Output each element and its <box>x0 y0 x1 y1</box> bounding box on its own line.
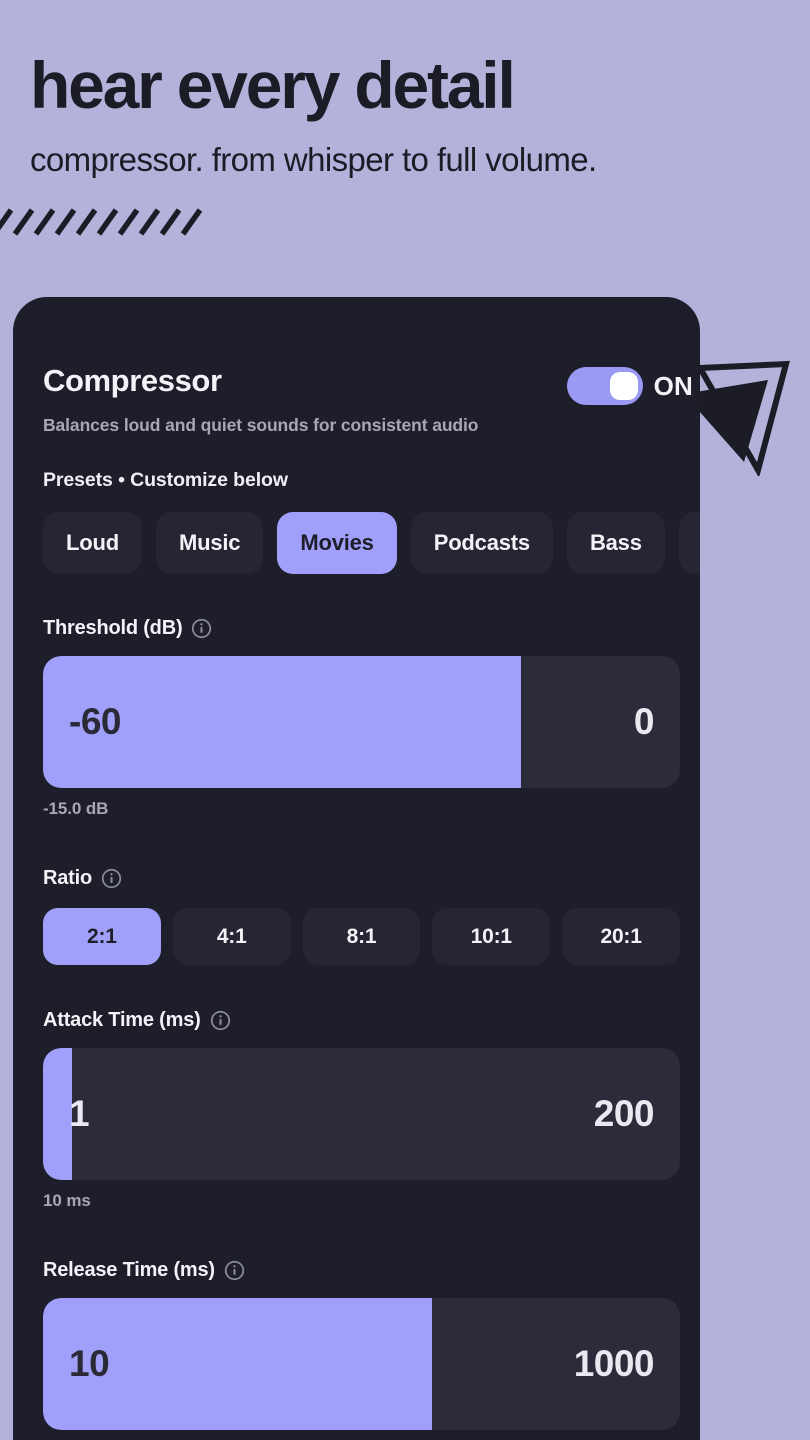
attack-label: Attack Time (ms) <box>43 1009 201 1032</box>
ratio-label-row: Ratio <box>43 867 680 890</box>
info-circle-icon[interactable] <box>210 1010 231 1031</box>
hero-banner: hear every detail compressor. from whisp… <box>0 0 810 297</box>
threshold-min-value: -60 <box>69 701 121 743</box>
ratio-option-10-1[interactable]: 10:1 <box>432 908 550 965</box>
threshold-max-value: 0 <box>634 701 654 743</box>
release-section: Release Time (ms) 10 1000 <box>43 1259 680 1430</box>
info-circle-icon[interactable] <box>101 868 122 889</box>
threshold-label-row: Threshold (dB) <box>43 617 680 640</box>
threshold-section: Threshold (dB) -60 0 -15.0 dB <box>43 617 680 819</box>
attack-slider-fill <box>43 1048 72 1180</box>
attack-slider[interactable]: 1 200 <box>43 1048 680 1180</box>
attack-min-value: 1 <box>69 1093 89 1135</box>
compressor-toggle-group[interactable]: ON <box>567 367 693 405</box>
ratio-option-20-1[interactable]: 20:1 <box>562 908 680 965</box>
card-title: Compressor <box>43 363 222 399</box>
preset-chip-loud[interactable]: Loud <box>43 512 142 574</box>
release-max-value: 1000 <box>574 1343 654 1385</box>
toggle-state-label: ON <box>654 371 693 402</box>
attack-max-value: 200 <box>594 1093 654 1135</box>
ratio-section: Ratio 2:1 4:1 8:1 10:1 20:1 <box>43 867 680 965</box>
ratio-option-4-1[interactable]: 4:1 <box>173 908 291 965</box>
preset-chip-movies[interactable]: Movies <box>277 512 396 574</box>
preset-chip-next[interactable]: N <box>679 512 700 574</box>
toggle-knob-icon <box>610 372 638 400</box>
compressor-card: Compressor ON Balances loud and quiet so… <box>13 297 700 1440</box>
compressor-toggle-switch[interactable] <box>567 367 643 405</box>
preset-chip-podcasts[interactable]: Podcasts <box>411 512 553 574</box>
ratio-option-8-1[interactable]: 8:1 <box>303 908 421 965</box>
info-circle-icon[interactable] <box>224 1260 245 1281</box>
card-subtitle: Balances loud and quiet sounds for consi… <box>43 415 478 436</box>
info-circle-icon[interactable] <box>191 618 212 639</box>
preset-chip-row[interactable]: Loud Music Movies Podcasts Bass N <box>43 512 700 574</box>
threshold-current-value: -15.0 dB <box>43 799 680 819</box>
attack-label-row: Attack Time (ms) <box>43 1009 680 1032</box>
presets-heading: Presets • Customize below <box>43 469 288 492</box>
preset-chip-music[interactable]: Music <box>156 512 263 574</box>
release-label-row: Release Time (ms) <box>43 1259 680 1282</box>
ratio-option-row[interactable]: 2:1 4:1 8:1 10:1 20:1 <box>43 908 680 965</box>
ratio-label: Ratio <box>43 867 92 890</box>
page-subtitle: compressor. from whisper to full volume. <box>30 140 597 180</box>
threshold-slider[interactable]: -60 0 <box>43 656 680 788</box>
preset-chip-bass[interactable]: Bass <box>567 512 665 574</box>
cursor-arrow-icon <box>698 358 794 476</box>
attack-section: Attack Time (ms) 1 200 10 ms <box>43 1009 680 1211</box>
diagonal-hatch-icon <box>0 204 204 240</box>
page-title: hear every detail <box>30 52 514 118</box>
threshold-label: Threshold (dB) <box>43 617 182 640</box>
release-min-value: 10 <box>69 1343 109 1385</box>
card-header: Compressor ON <box>43 367 693 407</box>
ratio-option-2-1[interactable]: 2:1 <box>43 908 161 965</box>
release-slider[interactable]: 10 1000 <box>43 1298 680 1430</box>
release-label: Release Time (ms) <box>43 1259 215 1282</box>
attack-current-value: 10 ms <box>43 1191 680 1211</box>
